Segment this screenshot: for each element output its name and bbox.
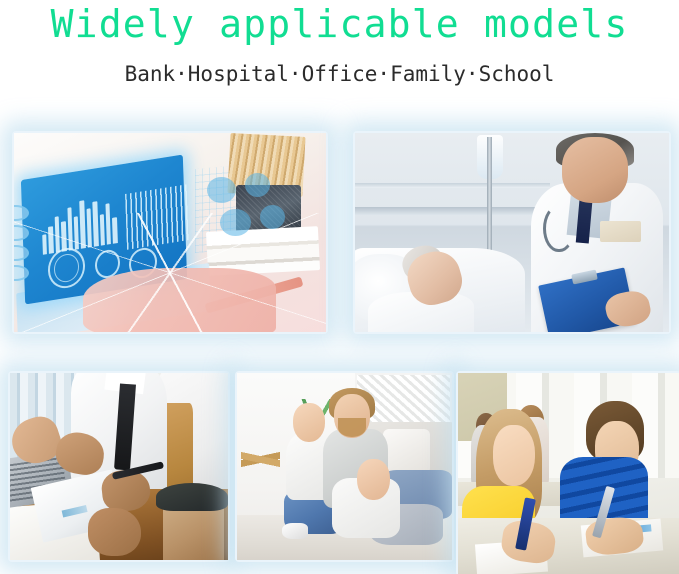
doctor-head — [562, 137, 628, 203]
page-title: Widely applicable models — [0, 2, 679, 46]
wall-rail-upper — [355, 183, 550, 188]
schoolgirl-face — [493, 425, 535, 485]
document-holding-hand — [88, 508, 140, 557]
promo-banner: Widely applicable models Bank·Hospital·O… — [0, 0, 679, 574]
daughter-head — [293, 403, 325, 442]
hologram-icon-column — [14, 201, 45, 297]
wall-rail-lower — [355, 207, 550, 215]
photo-school — [458, 373, 679, 574]
coat-pocket — [600, 221, 641, 243]
photo-bank — [14, 133, 326, 332]
scenario-subtitle: Bank·Hospital·Office·Family·School — [0, 61, 679, 87]
photo-hospital — [355, 133, 669, 332]
white-sneaker — [282, 523, 308, 540]
sofa-cushion — [383, 429, 430, 474]
network-lines-overlay — [14, 213, 326, 332]
coffee-lid — [156, 483, 228, 511]
mother-head — [357, 459, 389, 500]
father-beard — [338, 418, 366, 437]
stethoscope — [543, 205, 574, 253]
photo-office — [10, 373, 228, 560]
hologram-bubble-1 — [207, 177, 235, 203]
hologram-bubble-2 — [245, 173, 270, 197]
wooden-easel — [241, 414, 280, 504]
photo-family — [237, 373, 452, 560]
